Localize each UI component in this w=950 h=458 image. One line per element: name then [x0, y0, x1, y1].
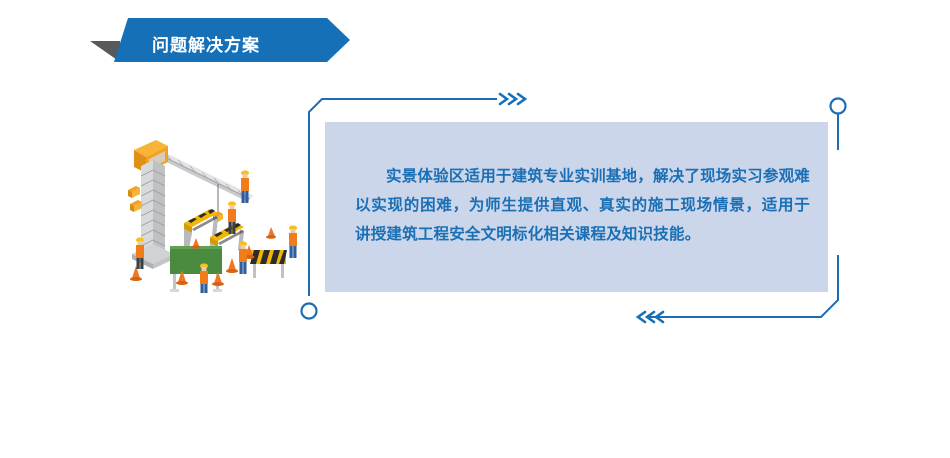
- cone: [130, 266, 142, 281]
- crane-jib: [154, 150, 254, 202]
- worker: [200, 263, 208, 293]
- content-paragraph: 实景体验区适用于建筑专业实训基地，解决了现场实习参观难以实现的困难，为师生提供直…: [355, 162, 810, 249]
- construction-site-illustration: [118, 128, 308, 293]
- cone: [212, 272, 224, 286]
- crane-counterweights: [128, 186, 142, 212]
- cone: [266, 227, 276, 239]
- circle-node-icon: [831, 99, 846, 114]
- page-title: 问题解决方案: [152, 37, 260, 54]
- triple-chevron-left-icon: [638, 312, 663, 322]
- worker: [289, 225, 297, 258]
- road-barrier: [250, 250, 287, 278]
- triple-chevron-right-icon: [500, 94, 525, 104]
- cone: [192, 238, 201, 249]
- circle-node-icon: [302, 304, 317, 319]
- cone: [226, 258, 238, 273]
- page-title-banner: 问题解决方案: [90, 18, 350, 62]
- crane-mast: [141, 160, 165, 256]
